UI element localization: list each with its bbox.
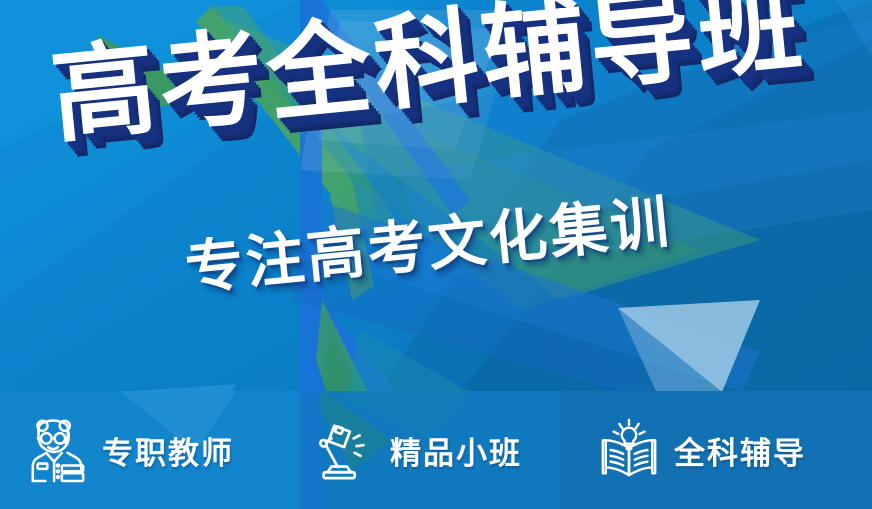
feature-label-teacher: 专职教师 — [102, 428, 234, 473]
desk-lamp-icon — [314, 417, 376, 483]
open-book-lightbulb-icon — [598, 417, 660, 483]
feature-label-all-subjects: 全科辅导 — [674, 428, 806, 473]
feature-strip: 专职教师 — [0, 391, 872, 509]
promo-banner: 高考全科辅导班 专注高考文化集训 — [0, 0, 872, 509]
feature-item-teacher: 专职教师 — [0, 417, 300, 483]
feature-label-small-class: 精品小班 — [390, 428, 522, 473]
feature-item-all-subjects: 全科辅导 — [588, 417, 872, 483]
teacher-icon — [26, 417, 88, 483]
feature-item-small-class: 精品小班 — [300, 417, 588, 483]
